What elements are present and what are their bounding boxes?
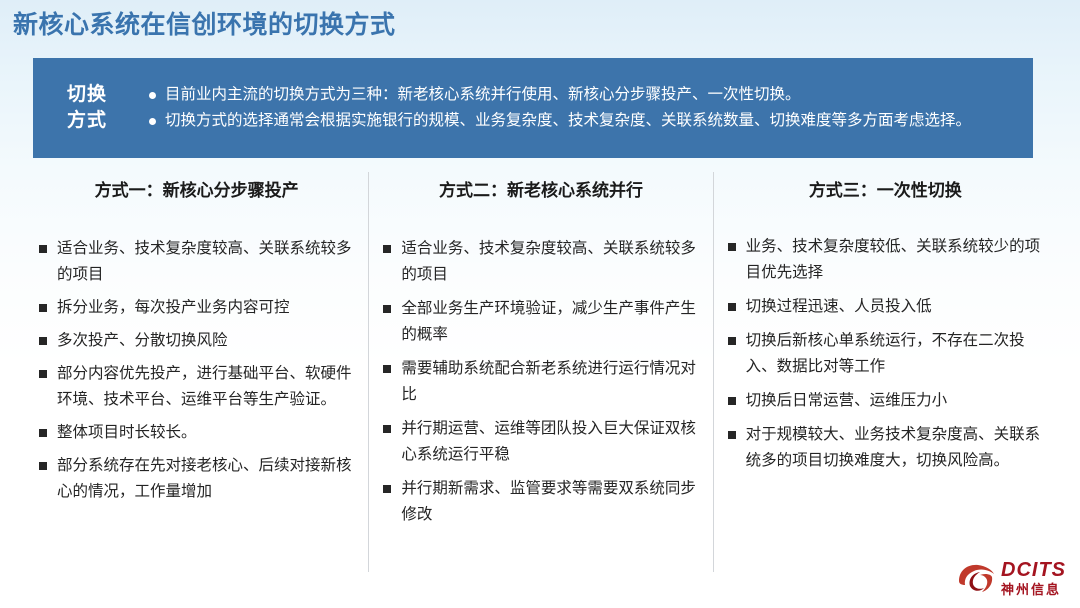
square-bullet-icon xyxy=(383,365,391,373)
company-logo: DCITS 神州信息 xyxy=(956,558,1066,598)
square-bullet-icon xyxy=(383,305,391,313)
list-item: 并行期运营、运维等团队投入巨大保证双核心系统运行平稳 xyxy=(383,416,698,468)
list-item-text: 部分系统存在先对接老核心、后续对接新核心的情况，工作量增加 xyxy=(57,453,354,505)
page-title: 新核心系统在信创环境的切换方式 xyxy=(13,10,396,40)
column-title: 方式三：一次性切换 xyxy=(728,180,1043,202)
list-item: 切换后新核心单系统运行，不存在二次投入、数据比对等工作 xyxy=(728,328,1043,380)
column-method-one: 方式一：新核心分步骤投产 适合业务、技术复杂度较高、关联系统较多的项目 拆分业务… xyxy=(25,172,368,572)
square-bullet-icon xyxy=(39,370,47,378)
column-bullet-list: 适合业务、技术复杂度较高、关联系统较多的项目 拆分业务，每次投产业务内容可控 多… xyxy=(39,236,354,505)
banner-label-line2: 方式 xyxy=(67,108,107,134)
column-method-three: 方式三：一次性切换 业务、技术复杂度较低、关联系统较少的项目优先选择 切换过程迅… xyxy=(713,172,1057,572)
square-bullet-icon xyxy=(383,425,391,433)
banner-bullet-text: 目前业内主流的切换方式为三种：新老核心系统并行使用、新核心分步骤投产、一次性切换… xyxy=(165,83,1015,107)
list-item: 部分系统存在先对接老核心、后续对接新核心的情况，工作量增加 xyxy=(39,453,354,505)
square-bullet-icon xyxy=(39,462,47,470)
list-item: 并行期新需求、监管要求等需要双系统同步修改 xyxy=(383,476,698,528)
banner-bullet-text: 切换方式的选择通常会根据实施银行的规模、业务复杂度、技术复杂度、关联系统数量、切… xyxy=(165,109,1015,133)
list-item-text: 切换过程迅速、人员投入低 xyxy=(746,294,1043,320)
list-item-text: 全部业务生产环境验证，减少生产事件产生的概率 xyxy=(401,296,698,348)
square-bullet-icon xyxy=(728,337,736,345)
list-item-text: 需要辅助系统配合新老系统进行运行情况对比 xyxy=(401,356,698,408)
square-bullet-icon xyxy=(39,304,47,312)
slide-root: 新核心系统在信创环境的切换方式 切换 方式 目前业内主流的切换方式为三种：新老核… xyxy=(0,0,1080,608)
list-item: 业务、技术复杂度较低、关联系统较少的项目优先选择 xyxy=(728,234,1043,286)
list-item: 需要辅助系统配合新老系统进行运行情况对比 xyxy=(383,356,698,408)
list-item: 整体项目时长较长。 xyxy=(39,420,354,446)
banner-bullet: 切换方式的选择通常会根据实施银行的规模、业务复杂度、技术复杂度、关联系统数量、切… xyxy=(149,109,1015,133)
dcits-swoosh-icon xyxy=(956,561,996,595)
bullet-dot-icon xyxy=(149,92,156,99)
square-bullet-icon xyxy=(39,337,47,345)
list-item-text: 并行期运营、运维等团队投入巨大保证双核心系统运行平稳 xyxy=(401,416,698,468)
list-item: 适合业务、技术复杂度较高、关联系统较多的项目 xyxy=(39,236,354,288)
banner-bullet: 目前业内主流的切换方式为三种：新老核心系统并行使用、新核心分步骤投产、一次性切换… xyxy=(149,83,1015,107)
banner-label-line1: 切换 xyxy=(67,82,107,108)
square-bullet-icon xyxy=(39,429,47,437)
list-item-text: 切换后日常运营、运维压力小 xyxy=(746,388,1043,414)
bullet-dot-icon xyxy=(149,118,156,125)
list-item-text: 对于规模较大、业务技术复杂度高、关联系统多的项目切换难度大，切换风险高。 xyxy=(746,422,1043,474)
square-bullet-icon xyxy=(728,431,736,439)
column-bullet-list: 业务、技术复杂度较低、关联系统较少的项目优先选择 切换过程迅速、人员投入低 切换… xyxy=(728,234,1043,474)
list-item: 切换过程迅速、人员投入低 xyxy=(728,294,1043,320)
column-title: 方式一：新核心分步骤投产 xyxy=(39,180,354,202)
list-item-text: 并行期新需求、监管要求等需要双系统同步修改 xyxy=(401,476,698,528)
summary-banner: 切换 方式 目前业内主流的切换方式为三种：新老核心系统并行使用、新核心分步骤投产… xyxy=(33,58,1033,158)
square-bullet-icon xyxy=(728,243,736,251)
list-item-text: 业务、技术复杂度较低、关联系统较少的项目优先选择 xyxy=(746,234,1043,286)
list-item-text: 整体项目时长较长。 xyxy=(57,420,354,446)
logo-english-name: DCITS xyxy=(1001,560,1066,580)
list-item-text: 适合业务、技术复杂度较高、关联系统较多的项目 xyxy=(57,236,354,288)
list-item-text: 适合业务、技术复杂度较高、关联系统较多的项目 xyxy=(401,236,698,288)
list-item-text: 切换后新核心单系统运行，不存在二次投入、数据比对等工作 xyxy=(746,328,1043,380)
square-bullet-icon xyxy=(728,397,736,405)
list-item: 全部业务生产环境验证，减少生产事件产生的概率 xyxy=(383,296,698,348)
square-bullet-icon xyxy=(39,245,47,253)
list-item-text: 拆分业务，每次投产业务内容可控 xyxy=(57,295,354,321)
comparison-columns: 方式一：新核心分步骤投产 适合业务、技术复杂度较高、关联系统较多的项目 拆分业务… xyxy=(25,172,1057,572)
banner-body: 目前业内主流的切换方式为三种：新老核心系统并行使用、新核心分步骤投产、一次性切换… xyxy=(141,58,1033,158)
list-item: 适合业务、技术复杂度较高、关联系统较多的项目 xyxy=(383,236,698,288)
list-item-text: 多次投产、分散切换风险 xyxy=(57,328,354,354)
banner-label: 切换 方式 xyxy=(33,58,141,158)
list-item-text: 部分内容优先投产，进行基础平台、软硬件环境、技术平台、运维平台等生产验证。 xyxy=(57,361,354,413)
list-item: 对于规模较大、业务技术复杂度高、关联系统多的项目切换难度大，切换风险高。 xyxy=(728,422,1043,474)
column-bullet-list: 适合业务、技术复杂度较高、关联系统较多的项目 全部业务生产环境验证，减少生产事件… xyxy=(383,236,698,528)
list-item: 切换后日常运营、运维压力小 xyxy=(728,388,1043,414)
logo-chinese-name: 神州信息 xyxy=(1001,583,1061,596)
square-bullet-icon xyxy=(383,485,391,493)
list-item: 部分内容优先投产，进行基础平台、软硬件环境、技术平台、运维平台等生产验证。 xyxy=(39,361,354,413)
list-item: 拆分业务，每次投产业务内容可控 xyxy=(39,295,354,321)
column-title: 方式二：新老核心系统并行 xyxy=(383,180,698,202)
square-bullet-icon xyxy=(728,303,736,311)
square-bullet-icon xyxy=(383,245,391,253)
column-method-two: 方式二：新老核心系统并行 适合业务、技术复杂度较高、关联系统较多的项目 全部业务… xyxy=(368,172,712,572)
logo-text-block: DCITS 神州信息 xyxy=(1001,560,1066,596)
list-item: 多次投产、分散切换风险 xyxy=(39,328,354,354)
